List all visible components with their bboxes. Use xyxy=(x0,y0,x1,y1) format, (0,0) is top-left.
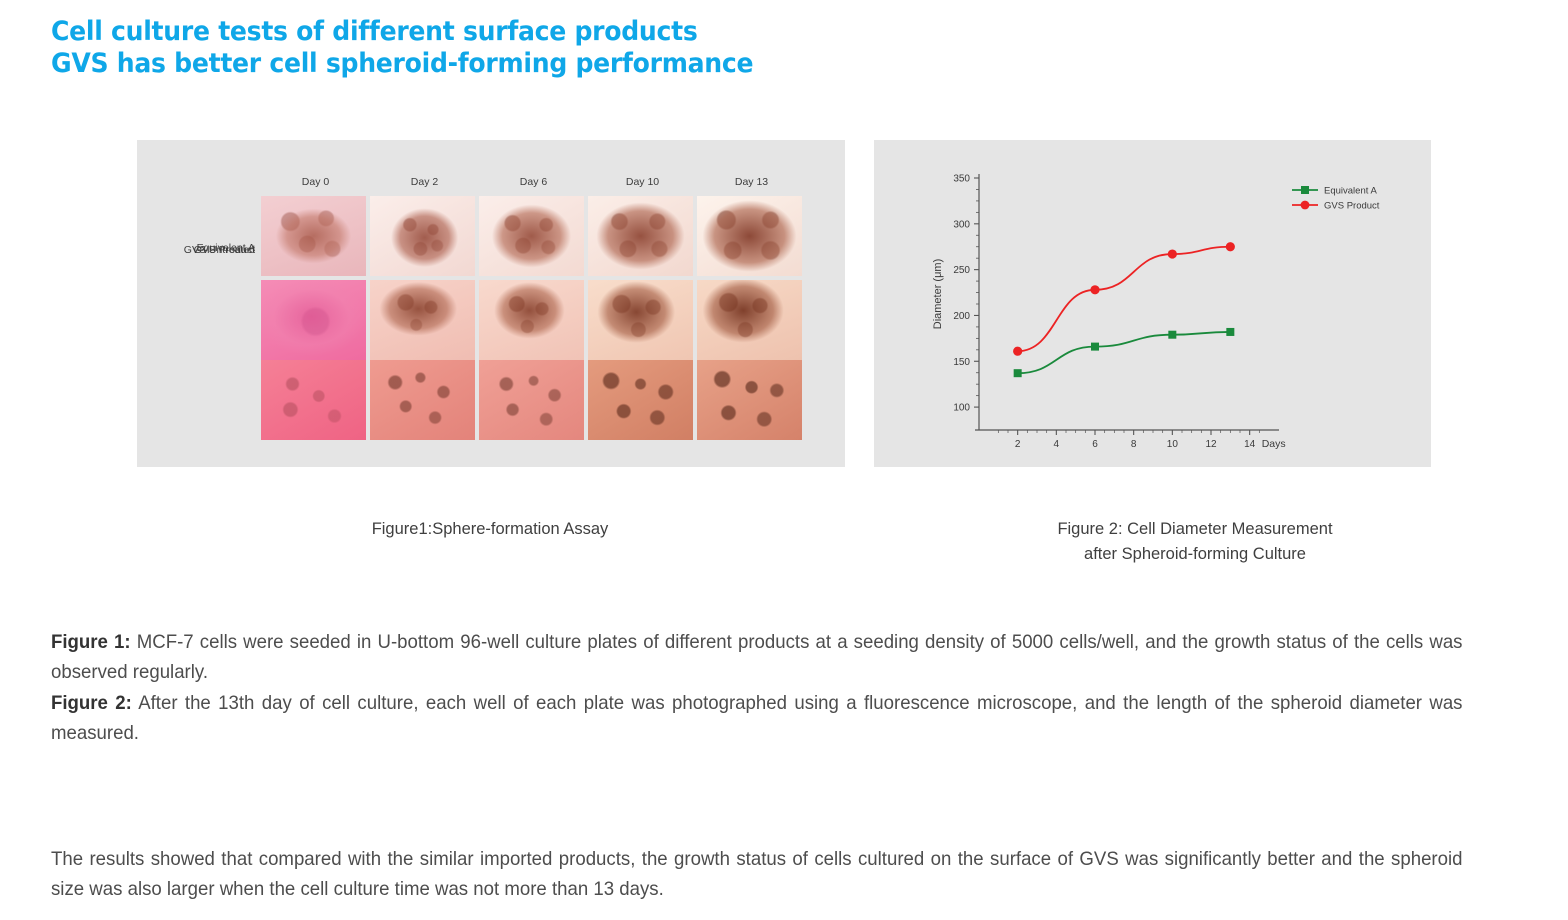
x-tick-label: 8 xyxy=(1131,439,1137,450)
data-point-marker xyxy=(1090,285,1099,294)
column-header-day10: Day 10 xyxy=(588,176,697,196)
figure1-lead: Figure 1: xyxy=(51,631,131,653)
figure-descriptions: Figure 1: MCF-7 cells were seeded in U-b… xyxy=(51,628,1462,751)
figure2-lead: Figure 2: xyxy=(51,692,132,714)
y-tick-label: 300 xyxy=(953,219,970,230)
micrograph-image xyxy=(261,280,366,360)
x-axis-label: Days xyxy=(1262,438,1286,450)
x-tick-label: 10 xyxy=(1167,439,1179,450)
micrograph-rows: GVS Product Equivalent xyxy=(261,196,806,440)
data-point-marker xyxy=(1168,331,1176,339)
y-tick-label: 250 xyxy=(953,265,970,276)
micrograph-image xyxy=(370,196,475,276)
micrograph-image xyxy=(697,360,802,440)
series-line-1 xyxy=(1018,332,1231,373)
column-header-day13: Day 13 xyxy=(697,176,806,196)
legend-marker xyxy=(1301,201,1310,210)
micrograph-row: Equivalent A xyxy=(261,280,806,360)
figure2-caption-line1: Figure 2: Cell Diameter Measurement xyxy=(900,517,1490,542)
data-point-marker xyxy=(1168,249,1177,258)
micrograph-image xyxy=(479,196,584,276)
figure2-description: Figure 2: After the 13th day of cell cul… xyxy=(51,689,1462,748)
row-label-gvs-untreated: GVS Untreated xyxy=(145,244,255,256)
column-header-day6: Day 6 xyxy=(479,176,588,196)
micrograph-image xyxy=(697,280,802,360)
title-line-1: Cell culture tests of different surface … xyxy=(51,16,753,48)
micrograph-row: GVS Untreated xyxy=(261,360,806,440)
y-tick-label: 100 xyxy=(953,403,970,414)
data-point-marker xyxy=(1091,343,1099,351)
micrograph-image xyxy=(479,360,584,440)
micrograph-image xyxy=(261,196,366,276)
figure1-description: Figure 1: MCF-7 cells were seeded in U-b… xyxy=(51,628,1462,687)
y-tick-label: 150 xyxy=(953,357,970,368)
micrograph-image xyxy=(588,280,693,360)
series-line-2 xyxy=(1018,247,1231,351)
figure1-caption: Figure1:Sphere-formation Assay xyxy=(180,517,800,542)
micrograph-image xyxy=(588,360,693,440)
micrograph-image xyxy=(261,360,366,440)
legend-label-2: GVS Product xyxy=(1324,201,1380,212)
x-tick-label: 6 xyxy=(1092,439,1098,450)
x-tick-label: 2 xyxy=(1015,439,1021,450)
micrograph-image xyxy=(588,196,693,276)
x-tick-label: 4 xyxy=(1054,439,1060,450)
figure1-panel: Day 0 Day 2 Day 6 Day 10 Day 13 GVS Prod… xyxy=(137,140,845,467)
legend-marker xyxy=(1301,186,1309,194)
data-point-marker xyxy=(1226,242,1235,251)
x-tick-label: 12 xyxy=(1205,439,1217,450)
results-text: The results showed that compared with th… xyxy=(51,845,1462,904)
figure1-body: MCF-7 cells were seeded in U-bottom 96-w… xyxy=(51,631,1462,683)
micrograph-image xyxy=(479,280,584,360)
data-point-marker xyxy=(1013,347,1022,356)
data-point-marker xyxy=(1014,369,1022,377)
page-title: Cell culture tests of different surface … xyxy=(51,16,806,80)
figure1-caption-text: Figure1:Sphere-formation Assay xyxy=(372,520,609,538)
diameter-line-chart: 1001502002503003502468101214DaysDiameter… xyxy=(874,140,1431,467)
column-header-day2: Day 2 xyxy=(370,176,479,196)
figure2-caption-line2: after Spheroid-forming Culture xyxy=(900,542,1490,567)
data-point-marker xyxy=(1226,328,1234,336)
figure2-body: After the 13th day of cell culture, each… xyxy=(51,692,1463,744)
x-tick-label: 14 xyxy=(1244,439,1256,450)
column-header-day0: Day 0 xyxy=(261,176,370,196)
micrograph-grid: Day 0 Day 2 Day 6 Day 10 Day 13 GVS Prod… xyxy=(261,176,806,440)
legend-label-1: Equivalent A xyxy=(1324,186,1377,197)
y-axis-label: Diameter (μm) xyxy=(932,259,944,330)
micrograph-image xyxy=(697,196,802,276)
micrograph-column-headers: Day 0 Day 2 Day 6 Day 10 Day 13 xyxy=(261,176,806,196)
figure2-panel: 1001502002503003502468101214DaysDiameter… xyxy=(874,140,1431,467)
results-paragraph: The results showed that compared with th… xyxy=(51,845,1462,904)
micrograph-image xyxy=(370,360,475,440)
micrograph-image xyxy=(370,280,475,360)
y-tick-label: 350 xyxy=(953,174,970,185)
y-tick-label: 200 xyxy=(953,311,970,322)
title-line-2: GVS has better cell spheroid-forming per… xyxy=(51,48,753,80)
micrograph-row: GVS Product xyxy=(261,196,806,280)
figure2-caption: Figure 2: Cell Diameter Measurement afte… xyxy=(900,517,1490,567)
